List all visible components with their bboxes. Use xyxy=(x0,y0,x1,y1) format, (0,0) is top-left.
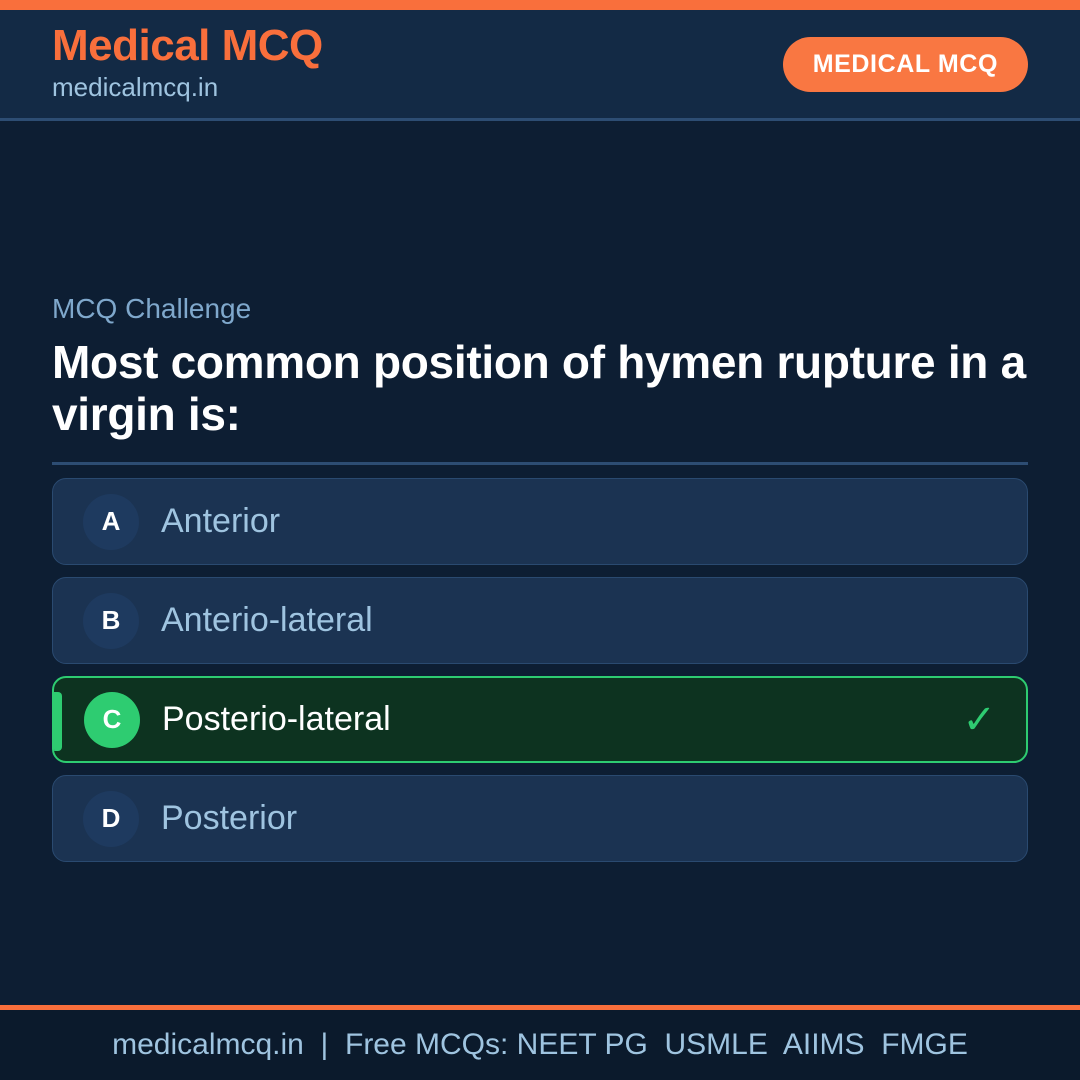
brand-block: Medical MCQ medicalmcq.in xyxy=(52,23,323,105)
page-footer: medicalmcq.in | Free MCQs: NEET PG USMLE… xyxy=(0,1010,1080,1080)
check-icon: ✓ xyxy=(962,700,996,740)
option-b[interactable]: B Anterio-lateral ✓ xyxy=(52,577,1028,664)
question-kicker: MCQ Challenge xyxy=(52,292,1028,326)
option-label: Posterior xyxy=(161,798,997,839)
brand-title: Medical MCQ xyxy=(52,23,323,69)
option-letter-badge: D xyxy=(83,791,139,847)
option-c[interactable]: C Posterio-lateral ✓ xyxy=(52,676,1028,763)
brand-subtitle: medicalmcq.in xyxy=(52,71,323,105)
option-d[interactable]: D Posterior ✓ xyxy=(52,775,1028,862)
option-letter-badge: A xyxy=(83,494,139,550)
options-list: A Anterior ✓ B Anterio-lateral ✓ C Poste… xyxy=(52,478,1028,874)
question-text: Most common position of hymen rupture in… xyxy=(52,336,1028,441)
option-label: Anterio-lateral xyxy=(161,600,997,641)
option-a[interactable]: A Anterior ✓ xyxy=(52,478,1028,565)
correct-accent-bar xyxy=(54,692,62,751)
option-letter-badge: C xyxy=(84,692,140,748)
top-accent-bar xyxy=(0,0,1080,10)
brand-badge: MEDICAL MCQ xyxy=(783,37,1028,92)
question-divider xyxy=(52,462,1028,465)
main-content: MCQ Challenge Most common position of hy… xyxy=(0,124,1080,1010)
option-label: Anterior xyxy=(161,501,997,542)
mcq-card: Medical MCQ medicalmcq.in MEDICAL MCQ MC… xyxy=(0,0,1080,1080)
option-letter-badge: B xyxy=(83,593,139,649)
option-label: Posterio-lateral xyxy=(162,699,962,740)
question-block: MCQ Challenge Most common position of hy… xyxy=(52,292,1028,465)
page-header: Medical MCQ medicalmcq.in MEDICAL MCQ xyxy=(0,10,1080,121)
footer-text: medicalmcq.in | Free MCQs: NEET PG USMLE… xyxy=(112,1028,968,1062)
